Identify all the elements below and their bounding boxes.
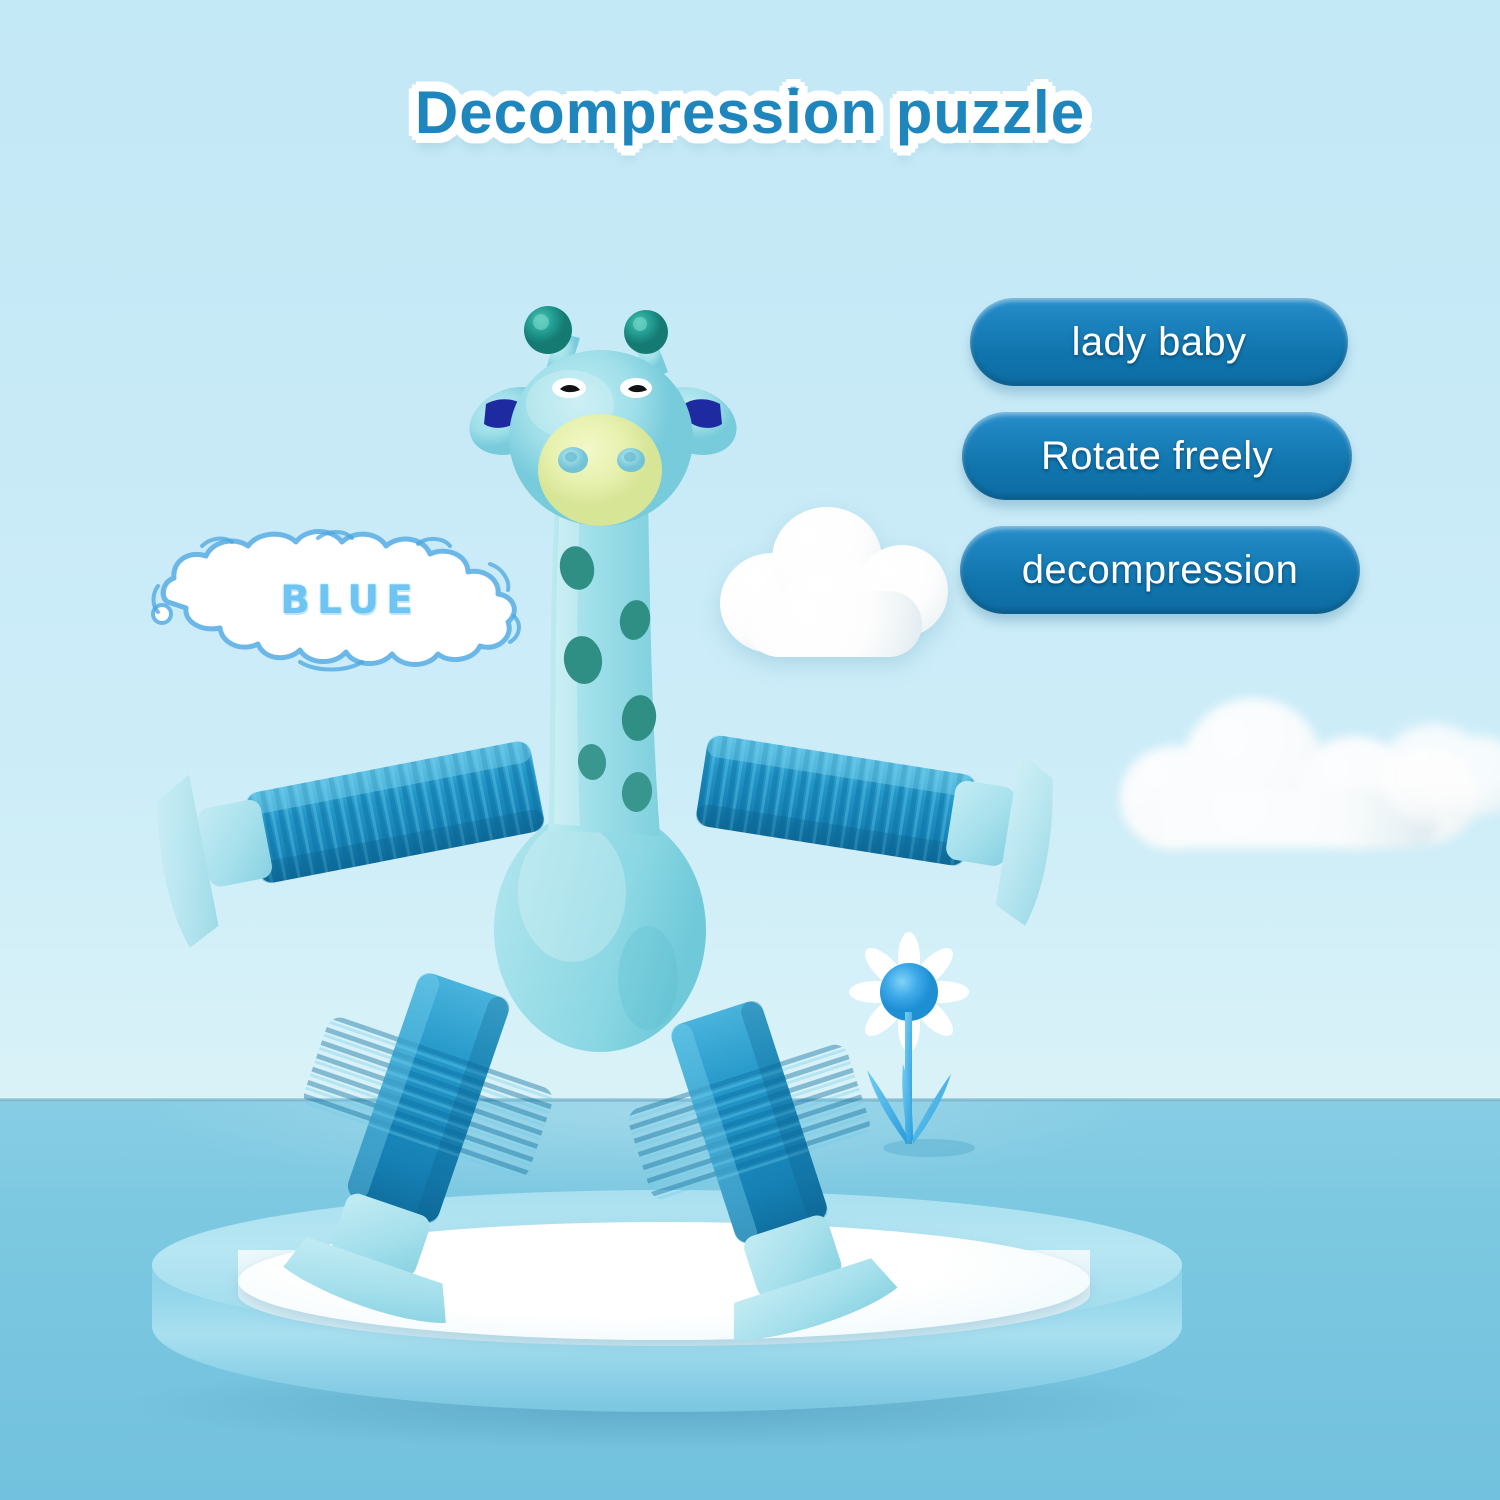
giraffe-pop-tube-toy[interactable] — [0, 0, 1500, 1500]
product-marketing-image: Decompression puzzle lady baby Rotate fr… — [0, 0, 1500, 1500]
toy-neck — [548, 490, 660, 836]
toy-right-arm[interactable] — [687, 704, 1062, 927]
toy-left-arm[interactable] — [147, 710, 556, 950]
toy-muzzle — [538, 414, 662, 526]
toy-body[interactable] — [494, 808, 706, 1052]
toy-head[interactable] — [509, 350, 693, 526]
